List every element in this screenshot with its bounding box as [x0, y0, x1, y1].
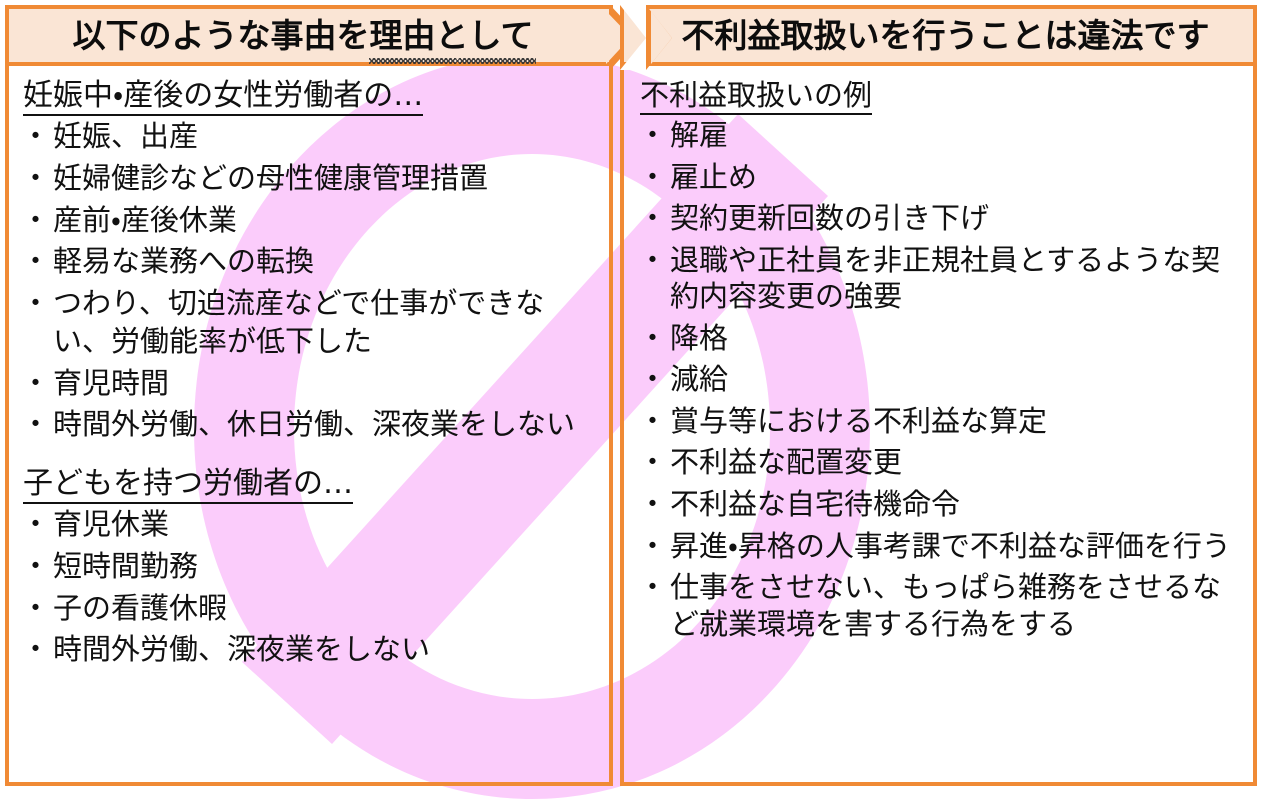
list-item: 不利益な自宅待機命令: [640, 486, 1245, 523]
list-item: つわり、切迫流産などで仕事ができない、労働能率が低下した: [23, 285, 599, 360]
list-item: 賞与等における不利益な算定: [640, 403, 1245, 440]
left-panel-list-group-2: 育児休業 短時間勤務 子の看護休暇 時間外労働、深夜業をしない: [23, 506, 599, 669]
chevron-notch-icon: [620, 5, 646, 70]
list-item: 不利益な配置変更: [640, 444, 1245, 481]
infographic-canvas: 以下のような事由を理由として 妊娠中・産後の女性労働者の… 妊娠、出産 妊婦健診…: [0, 0, 1262, 793]
right-panel-header: 不利益取扱いを行うことは違法です: [624, 9, 1253, 66]
list-item: 雇止め: [640, 159, 1245, 196]
right-panel: 不利益取扱いを行うことは違法です 不利益取扱いの例 解雇 雇止め 契約更新回数の…: [620, 5, 1257, 786]
group-heading-pregnant-workers: 妊娠中・産後の女性労働者の…: [23, 78, 423, 116]
list-item: 昇進・昇格の人事考課で不利益な評価を行う: [640, 528, 1245, 565]
list-item: 仕事をさせない、もっぱら雑務をさせるなど就業環境を害する行為をする: [640, 569, 1245, 642]
list-item: 妊娠、出産: [23, 118, 599, 156]
list-item: 子の看護休暇: [23, 590, 599, 628]
list-item: 短時間勤務: [23, 548, 599, 586]
list-item: 解雇: [640, 117, 1245, 154]
left-panel-list-group-1: 妊娠、出産 妊婦健診などの母性健康管理措置 産前・産後休業 軽易な業務への転換 …: [23, 118, 599, 444]
list-item: 時間外労働、深夜業をしない: [23, 631, 599, 669]
left-panel: 以下のような事由を理由として 妊娠中・産後の女性労働者の… 妊娠、出産 妊婦健診…: [5, 5, 613, 786]
group-heading-disadvantage-examples: 不利益取扱いの例: [640, 78, 872, 115]
list-item: 契約更新回数の引き下げ: [640, 200, 1245, 237]
right-panel-list: 解雇 雇止め 契約更新回数の引き下げ 退職や正社員を非正規社員とするような契約内…: [640, 117, 1245, 642]
list-item: 時間外労働、休日労働、深夜業をしない: [23, 406, 599, 444]
list-item: 降格: [640, 320, 1245, 357]
group-spacer: [23, 448, 599, 466]
list-item: 育児時間: [23, 365, 599, 403]
left-panel-title: 以下のような事由を理由として: [72, 19, 533, 52]
list-item: 産前・産後休業: [23, 202, 599, 240]
list-item: 退職や正社員を非正規社員とするような契約内容変更の強要: [640, 242, 1245, 315]
right-panel-title: 不利益取扱いを行うことは違法です: [682, 19, 1210, 52]
list-item: 妊婦健診などの母性健康管理措置: [23, 160, 599, 198]
list-item: 減給: [640, 361, 1245, 398]
left-panel-header: 以下のような事由を理由として: [9, 9, 609, 66]
group-heading-workers-with-children: 子どもを持つ労働者の…: [23, 466, 353, 504]
list-item: 育児休業: [23, 506, 599, 544]
list-item: 軽易な業務への転換: [23, 243, 599, 281]
right-panel-body: 不利益取扱いの例 解雇 雇止め 契約更新回数の引き下げ 退職や正社員を非正規社員…: [624, 66, 1253, 782]
left-panel-body: 妊娠中・産後の女性労働者の… 妊娠、出産 妊婦健診などの母性健康管理措置 産前・…: [9, 66, 609, 782]
